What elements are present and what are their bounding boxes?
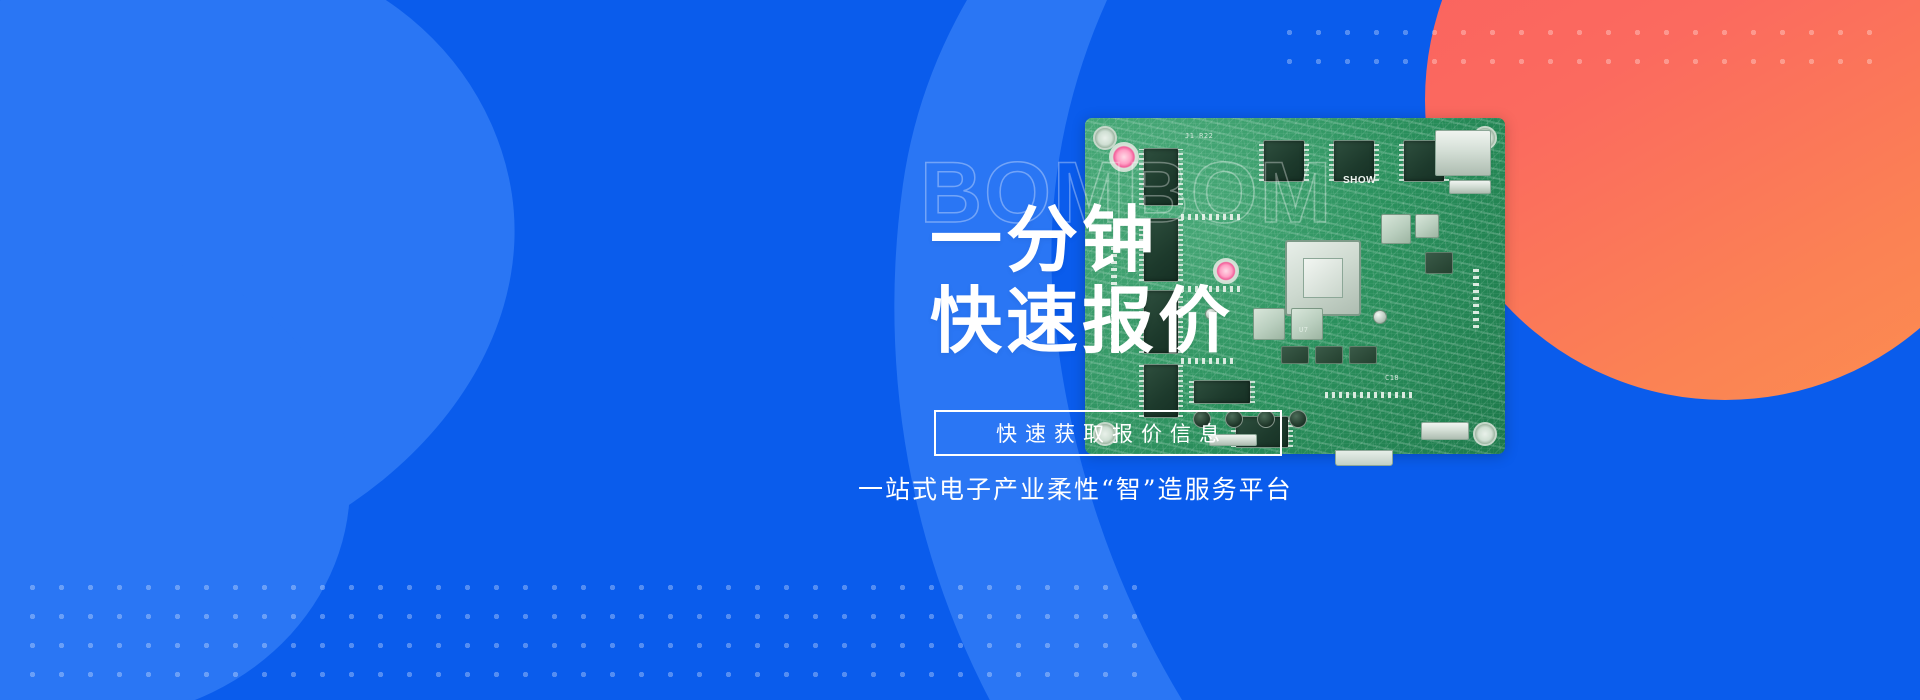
dot-grid-top-right <box>1275 18 1895 64</box>
pcb-board-logo: SHOW <box>1343 176 1376 187</box>
pcb-connector <box>1421 422 1469 440</box>
pcb-edge-tab <box>1335 450 1393 466</box>
pcb-capacitor <box>1205 308 1217 320</box>
pcb-indicator-ring <box>1109 142 1139 172</box>
pcb-component <box>1425 252 1453 274</box>
pcb-silkscreen-text: J1 R22 <box>1185 132 1213 140</box>
pcb-pad-column <box>1473 268 1479 328</box>
pcb-capacitor <box>1373 310 1387 324</box>
pcb-chip <box>1143 290 1179 354</box>
pcb-inductor <box>1415 214 1439 238</box>
pcb-pad-row <box>1181 286 1241 292</box>
pcb-processor-die <box>1303 258 1343 298</box>
pcb-capacitor <box>1193 410 1211 428</box>
pcb-pad-row <box>1181 214 1241 220</box>
pcb-connector <box>1209 434 1257 446</box>
pcb-inductor <box>1381 214 1411 244</box>
pcb-chip <box>1143 364 1179 418</box>
pcb-inductor <box>1291 308 1323 340</box>
pcb-processor <box>1285 240 1361 316</box>
pcb-capacitor <box>1225 410 1243 428</box>
pcb-connector <box>1449 180 1491 194</box>
pcb-mount-hole <box>1093 422 1117 446</box>
pcb-substrate: J1 R22 U7 C18 SHOW <box>1085 118 1505 454</box>
pcb-circuit-board-image: J1 R22 U7 C18 SHOW <box>1085 118 1505 454</box>
pcb-mount-hole <box>1473 422 1497 446</box>
pcb-silkscreen-text: U7 <box>1299 326 1308 334</box>
dot-grid-bottom-left <box>18 573 1138 678</box>
pcb-chip <box>1263 140 1305 182</box>
pcb-chip <box>1193 380 1251 404</box>
pcb-capacitor <box>1289 410 1307 428</box>
pcb-connector <box>1435 130 1491 176</box>
pcb-capacitor <box>1257 410 1275 428</box>
pcb-pad-row <box>1325 392 1415 398</box>
pcb-silkscreen-text: C18 <box>1385 374 1399 382</box>
pcb-component <box>1315 346 1343 364</box>
pcb-component <box>1281 346 1309 364</box>
pcb-pad-column <box>1111 238 1117 292</box>
pcb-component <box>1349 346 1377 364</box>
pcb-chip <box>1143 218 1179 282</box>
pcb-pad-row <box>1181 358 1233 364</box>
promo-banner: J1 R22 U7 C18 SHOW BOMBOM 一分钟 快速报价 快速获取报… <box>0 0 1920 700</box>
pcb-inductor <box>1253 308 1285 340</box>
pcb-indicator-ring <box>1213 258 1239 284</box>
pcb-pad-column <box>1111 308 1117 352</box>
pcb-chip <box>1143 148 1179 206</box>
